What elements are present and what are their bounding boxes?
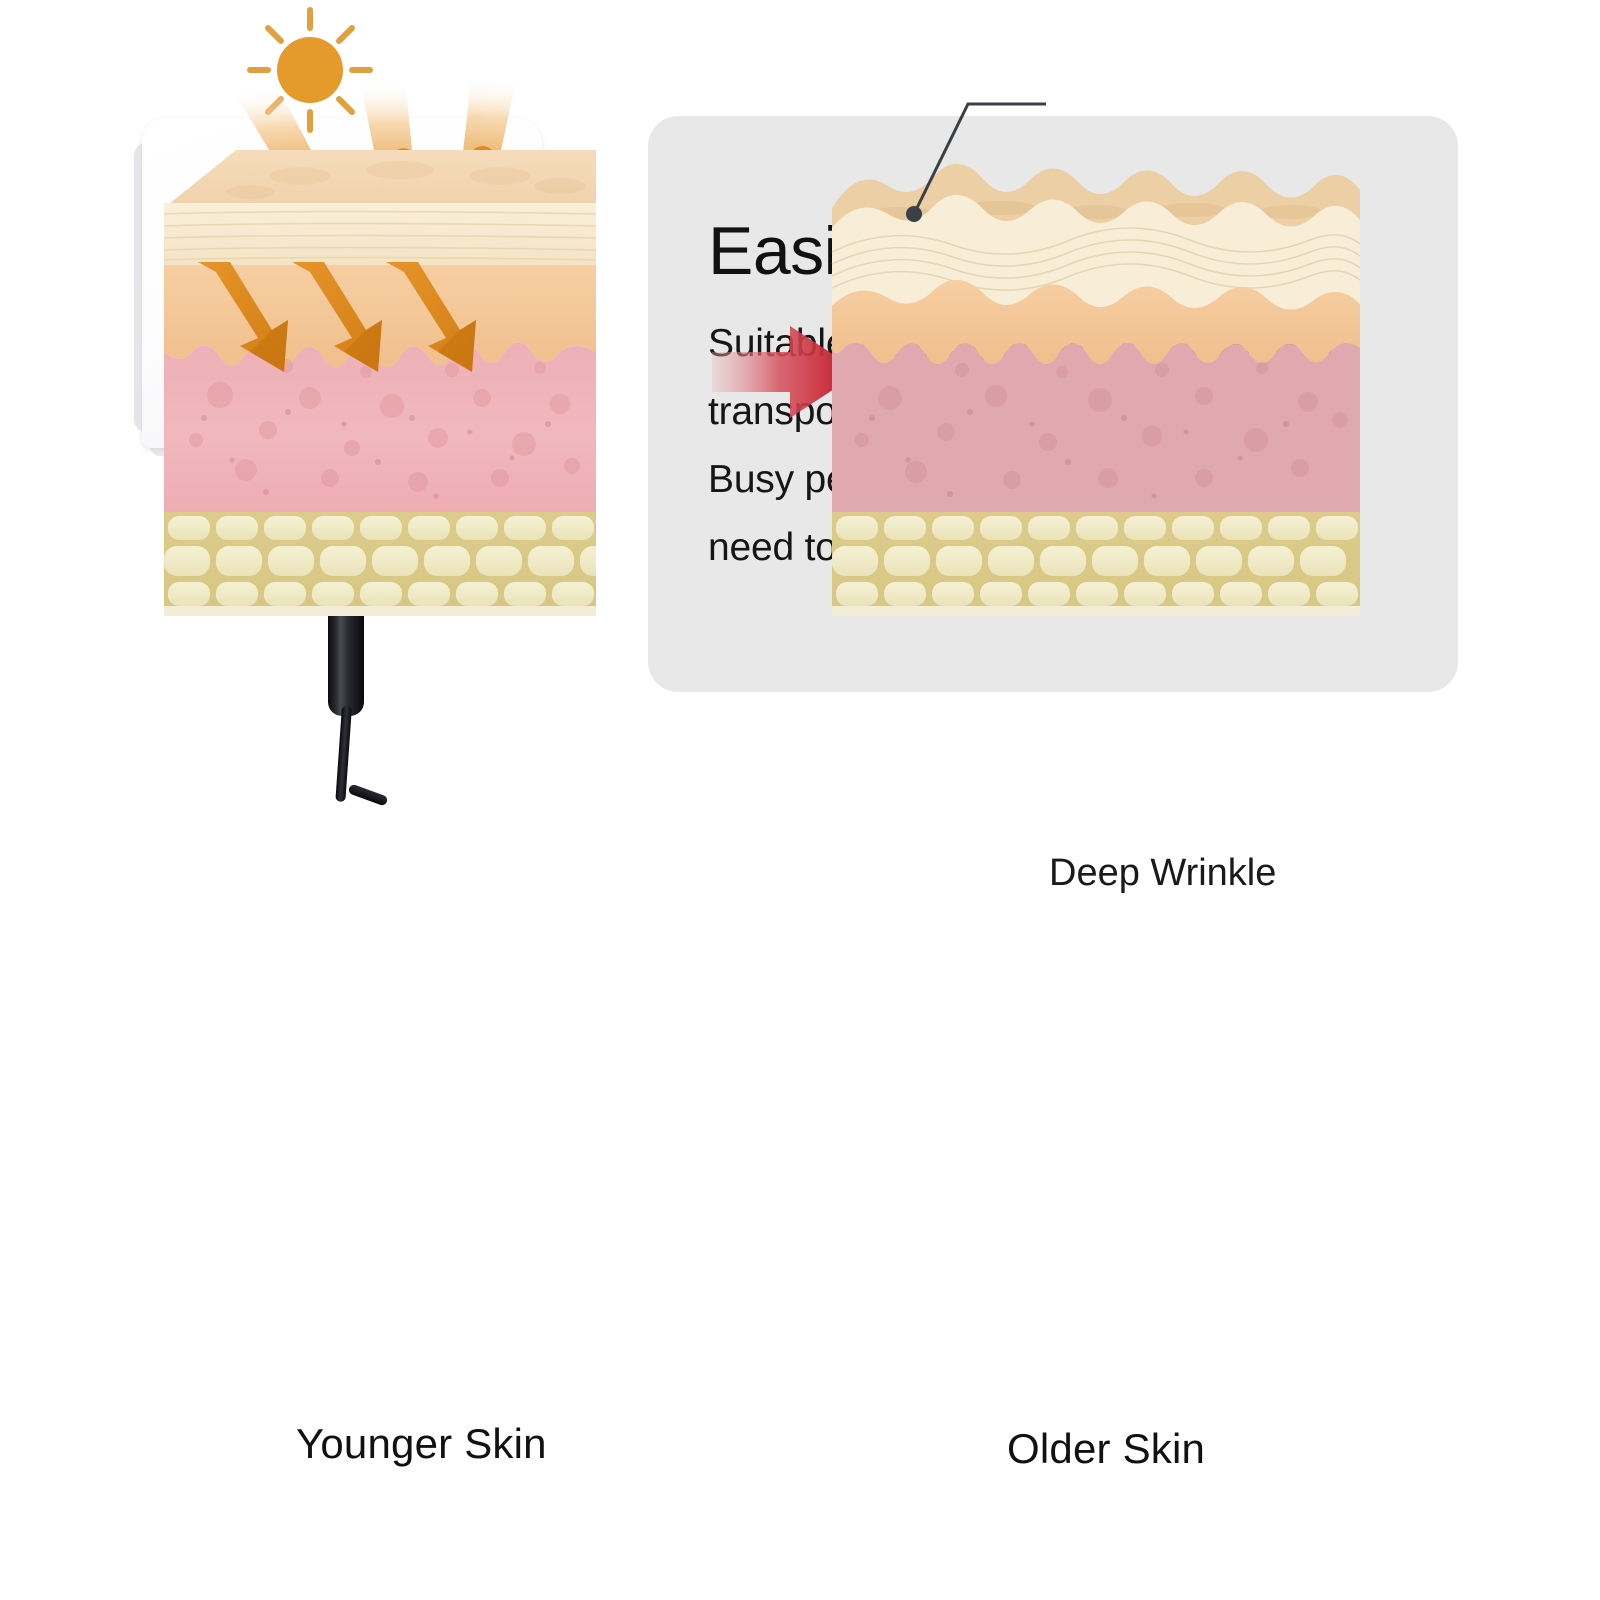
deep-wrinkle-label: Deep Wrinkle	[1049, 852, 1276, 895]
deep-wrinkle-callout-dot	[906, 206, 922, 222]
younger-dermis	[164, 342, 596, 512]
younger-skin-caption: Younger Skin	[296, 1420, 547, 1468]
older-fat-cells	[832, 516, 1358, 606]
page-root: VOLTAGE: 220V/240V FREQUENCY 50HZ POWER:…	[0, 0, 1600, 1600]
younger-skin-block	[164, 150, 620, 616]
older-skin-caption: Older Skin	[1007, 1425, 1205, 1473]
older-dermis	[832, 342, 1360, 512]
skin-comparison-diagram	[0, 0, 1600, 820]
younger-skin-top-surface	[164, 150, 596, 208]
older-skin-block	[832, 164, 1360, 616]
